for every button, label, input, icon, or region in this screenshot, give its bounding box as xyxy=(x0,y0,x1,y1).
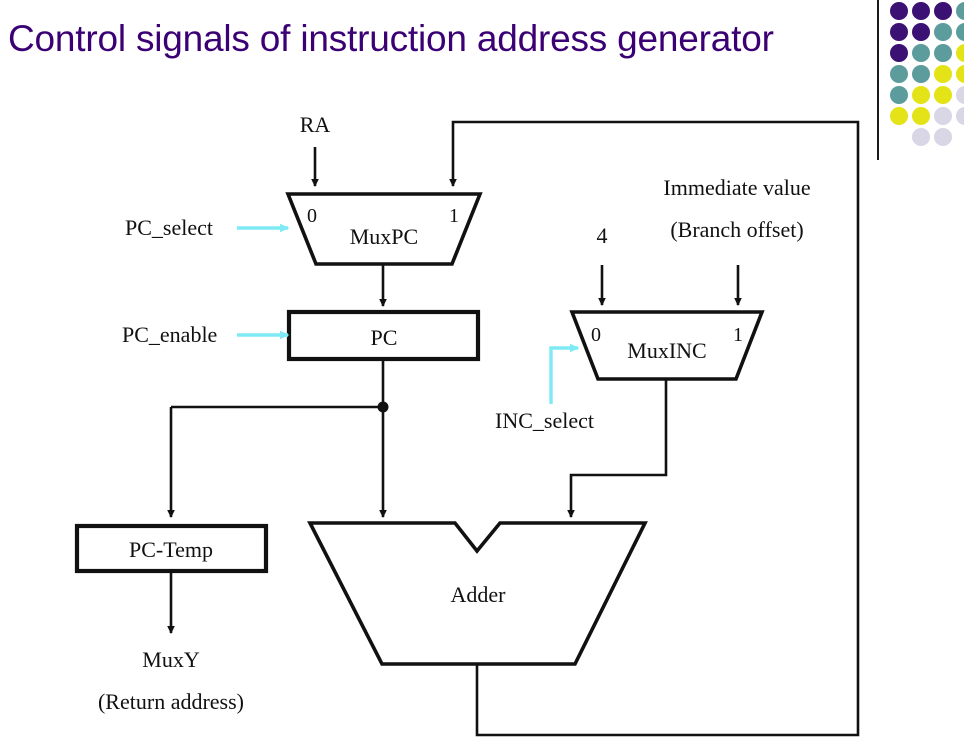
decoration-dot xyxy=(956,107,964,125)
decoration-dot xyxy=(934,107,952,125)
label-muxinc: MuxINC xyxy=(627,338,706,363)
decoration-dot xyxy=(912,2,930,20)
decoration-dot xyxy=(890,65,908,83)
decoration-dot xyxy=(934,2,952,20)
label-muxpc-port0: 0 xyxy=(307,205,317,227)
decoration-dot xyxy=(890,107,908,125)
label-adder: Adder xyxy=(451,582,507,607)
label-muxpc: MuxPC xyxy=(350,224,418,249)
label-pc: PC xyxy=(371,325,398,350)
wire-muxinc-to-adder xyxy=(571,379,666,517)
decoration-dot xyxy=(890,23,908,41)
wire-junction-dot xyxy=(378,402,389,413)
wire-pc-out xyxy=(171,359,383,517)
decoration-dot xyxy=(956,86,964,104)
page-title: Control signals of instruction address g… xyxy=(8,18,908,60)
label-muxy: MuxY xyxy=(142,647,200,672)
label-pc-temp: PC-Temp xyxy=(129,537,213,562)
decoration-dot xyxy=(934,23,952,41)
decoration-dot xyxy=(912,23,930,41)
decoration-dot xyxy=(934,128,952,146)
decoration-divider-line xyxy=(877,0,879,160)
label-muxpc-port1: 1 xyxy=(449,205,459,227)
label-return-address: (Return address) xyxy=(98,689,244,714)
decoration-dot xyxy=(912,44,930,62)
label-four: 4 xyxy=(597,223,608,248)
decoration-dot xyxy=(956,44,964,62)
decoration-dot xyxy=(934,86,952,104)
decoration-dot xyxy=(890,2,908,20)
decoration-dot xyxy=(934,44,952,62)
label-inc-select: INC_select xyxy=(495,408,594,433)
decoration-dot xyxy=(956,65,964,83)
decoration-dot xyxy=(912,128,930,146)
label-immediate-value: Immediate value xyxy=(663,175,810,200)
label-branch-offset: (Branch offset) xyxy=(670,217,803,242)
decoration-dot xyxy=(912,65,930,83)
decoration-dot xyxy=(956,23,964,41)
instruction-address-generator-diagram: RA 0 1 MuxPC PC_select PC_enable PC Imme… xyxy=(0,0,964,748)
decoration-dot xyxy=(956,2,964,20)
label-muxinc-port0: 0 xyxy=(591,324,601,346)
decoration-dot xyxy=(890,44,908,62)
label-pc-enable: PC_enable xyxy=(122,322,217,347)
label-pc-select: PC_select xyxy=(125,215,213,240)
decoration-dot xyxy=(912,86,930,104)
decoration-dot xyxy=(912,107,930,125)
dot-grid-decoration xyxy=(890,2,964,138)
decoration-dot xyxy=(890,86,908,104)
label-muxinc-port1: 1 xyxy=(733,324,743,346)
label-ra: RA xyxy=(300,112,331,137)
slide-canvas: Control signals of instruction address g… xyxy=(0,0,964,748)
decoration-dot xyxy=(934,65,952,83)
wire-inc-select xyxy=(551,348,578,404)
